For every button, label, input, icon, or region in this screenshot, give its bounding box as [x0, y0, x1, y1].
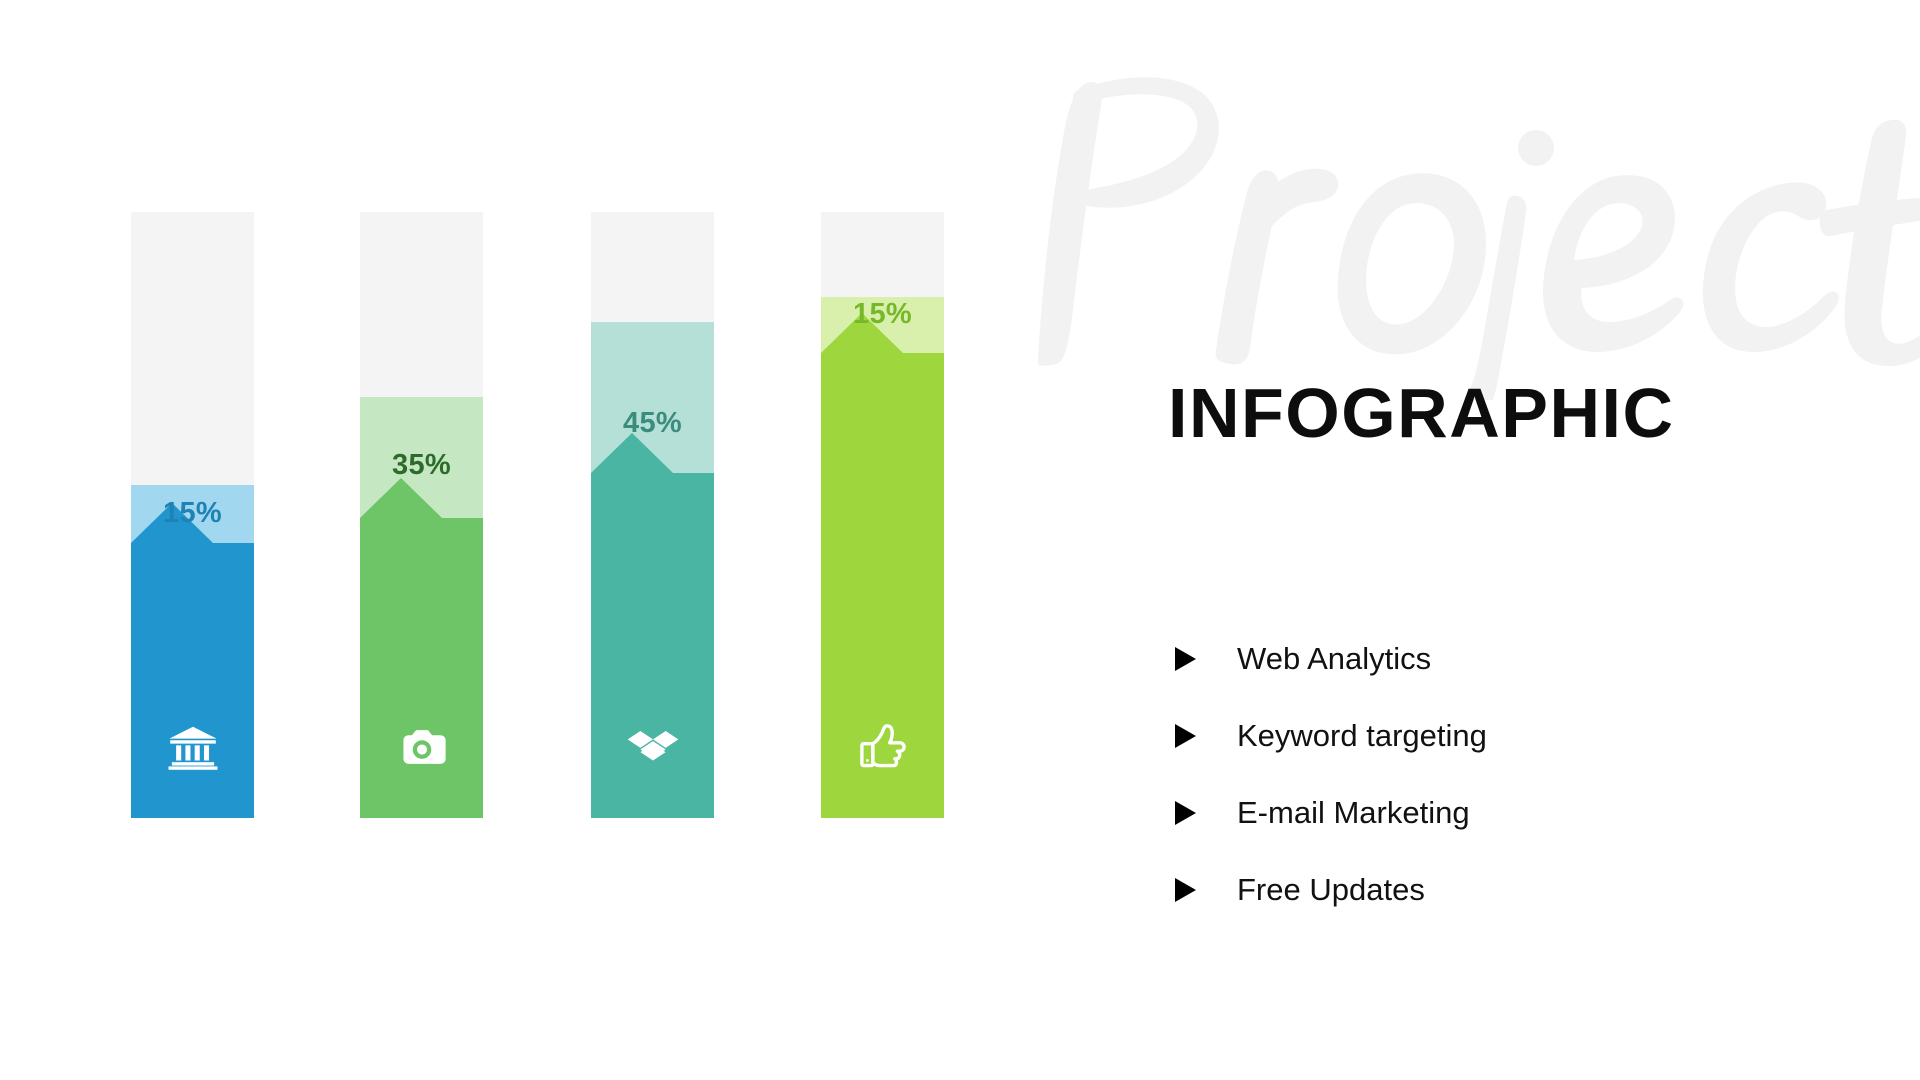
dropbox-icon: [626, 720, 680, 774]
bar-chart: 15% Title Here: [0, 0, 1000, 1080]
feature-list: Web Analytics Keyword targeting E-mail M…: [1168, 620, 1920, 928]
triangle-right-icon: [1170, 644, 1200, 674]
bank-icon: [166, 720, 220, 774]
camera-icon: [395, 720, 449, 774]
list-item[interactable]: Keyword targeting: [1168, 697, 1920, 774]
bar-column-1[interactable]: 15% Title Here: [131, 212, 254, 818]
bar-column-3[interactable]: 45% Title Here: [591, 212, 714, 818]
list-item-label: Web Analytics: [1237, 641, 1431, 677]
list-item[interactable]: Web Analytics: [1168, 620, 1920, 697]
bar-percent-4: 15%: [821, 298, 944, 331]
page-title: INFOGRAPHIC: [1168, 378, 1675, 448]
content-panel: INFOGRAPHIC Web Analytics Keyword target…: [1168, 0, 1920, 1080]
bar-percent-1: 15%: [131, 497, 254, 530]
list-item[interactable]: E-mail Marketing: [1168, 774, 1920, 851]
bar-percent-3: 45%: [591, 407, 714, 440]
triangle-right-icon: [1170, 721, 1200, 751]
bar-base-segment-1: [131, 543, 254, 818]
infographic-slide: 15% Title Here: [0, 0, 1920, 1080]
bar-percent-2: 35%: [360, 449, 483, 482]
bar-column-4[interactable]: 15% Title Here: [821, 212, 944, 818]
thumbs-up-icon: [856, 720, 910, 774]
triangle-right-icon: [1170, 875, 1200, 905]
bar-peak-2: [360, 478, 483, 518]
bar-column-2[interactable]: 35% Title Here: [360, 212, 483, 818]
list-item-label: Keyword targeting: [1237, 718, 1487, 754]
list-item-label: Free Updates: [1237, 872, 1425, 908]
list-item-label: E-mail Marketing: [1237, 795, 1470, 831]
list-item[interactable]: Free Updates: [1168, 851, 1920, 928]
triangle-right-icon: [1170, 798, 1200, 828]
